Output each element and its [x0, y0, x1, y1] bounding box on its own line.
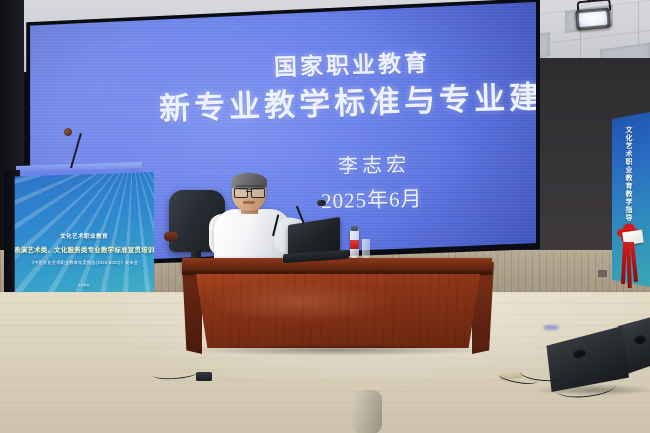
- presenter-mouth: [243, 201, 255, 204]
- banner-org-label-1: 主办单位:: [14, 283, 154, 287]
- slide-presenter-name: 李志宏: [338, 148, 411, 179]
- wall-outlet: [598, 270, 607, 277]
- floor-blue-light-spot: [543, 325, 559, 330]
- drinking-glass: [362, 239, 370, 258]
- desk-floor-shadow: [186, 344, 486, 356]
- chair-upholstery-crease: [352, 390, 382, 433]
- lecture-hall-photo: 国家职业教育 新专业教学标准与专业建设 李志宏 2025年6月 文化艺术职业教育…: [0, 0, 650, 433]
- power-plug: [196, 372, 212, 381]
- banner-heading: 文化艺术职业教育: [14, 232, 154, 240]
- desk-highlight: [210, 282, 390, 322]
- lectern-microphone-icon: [64, 128, 72, 136]
- banner-subheading: 表演艺术类、文化服务类专业教学标准宣贯培训: [14, 245, 154, 254]
- bottle-cap: [351, 226, 358, 231]
- red-ribbon-decoration: [609, 222, 649, 288]
- bottle-label: [350, 240, 359, 249]
- presenter-brow: [236, 185, 263, 187]
- microphone-icon: [317, 200, 326, 206]
- chair-armrest-left: [164, 232, 178, 241]
- slide-date: 2025年6月: [321, 183, 423, 215]
- banner-event-line: 《中国文化艺术职业教育年度报告(2022-2023)》发布会: [14, 260, 154, 266]
- glasses-icon: [234, 188, 265, 196]
- stage-light-icon: [575, 8, 611, 31]
